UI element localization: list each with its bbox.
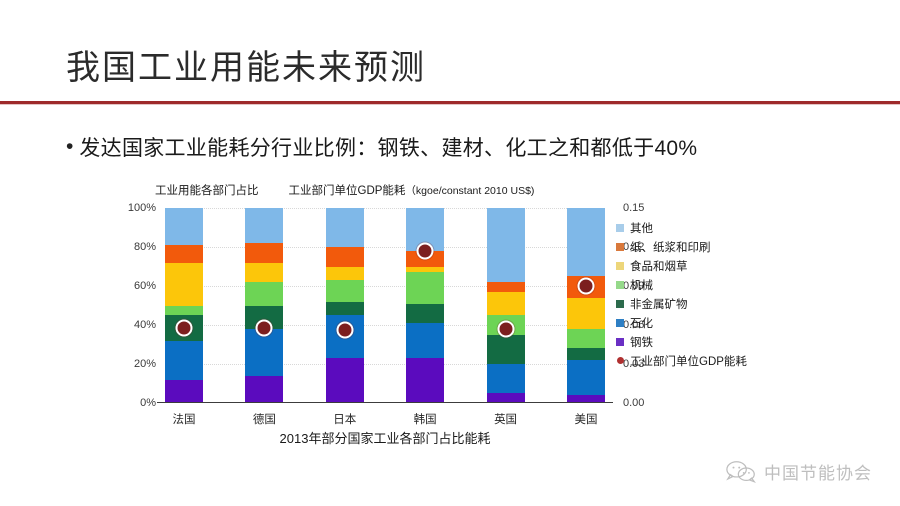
bar-segment[interactable] <box>487 335 525 364</box>
legend-label: 纸、纸浆和印刷 <box>630 239 711 255</box>
bar-segment[interactable] <box>487 292 525 315</box>
bar-segment[interactable] <box>406 358 444 403</box>
page-title: 我国工业用能未来预测 <box>66 40 426 89</box>
overlay-marker[interactable] <box>256 319 273 336</box>
bar-segment[interactable] <box>326 280 364 301</box>
legend-label: 工业部门单位GDP能耗 <box>630 353 747 369</box>
bar-segment[interactable] <box>326 247 364 267</box>
stacked-bar <box>487 208 525 403</box>
bar-segment[interactable] <box>406 323 444 358</box>
left-axis-tick: 20% <box>134 358 156 370</box>
legend-item[interactable]: 食品和烟草 <box>616 256 786 275</box>
bar-column[interactable]: 美国 <box>567 208 605 403</box>
x-axis-tick: 法国 <box>173 411 196 427</box>
legend-swatch-icon <box>616 281 624 289</box>
x-axis-tick: 英国 <box>494 411 517 427</box>
overlay-marker[interactable] <box>577 278 594 295</box>
bar-segment[interactable] <box>165 306 203 316</box>
bar-column[interactable]: 韩国 <box>406 208 444 403</box>
chart-right-axis-title-text: 工业部门单位GDP能耗 <box>289 185 406 197</box>
legend-marker-icon <box>617 357 624 364</box>
chart: 工业用能各部门占比 工业部门单位GDP能耗（kgoe/constant 2010… <box>118 180 783 430</box>
overlay-marker[interactable] <box>336 322 353 339</box>
left-axis-tick: 80% <box>134 241 156 253</box>
bar-segment[interactable] <box>567 329 605 349</box>
bar-column[interactable]: 日本 <box>326 208 364 403</box>
bar-segment[interactable] <box>567 348 605 360</box>
stacked-bar <box>245 208 283 403</box>
left-axis-tick: 60% <box>134 280 156 292</box>
legend-swatch-icon <box>616 224 624 232</box>
x-axis-tick: 韩国 <box>414 411 437 427</box>
bar-group: 法国德国日本韩国英国美国 <box>165 208 605 403</box>
bar-segment[interactable] <box>326 267 364 281</box>
bar-segment[interactable] <box>326 208 364 247</box>
legend-item[interactable]: 纸、纸浆和印刷 <box>616 237 786 256</box>
plot-area: 0%20%40%60%80%100% 0.000.030.060.090.120… <box>165 208 605 403</box>
left-axis-tick: 100% <box>128 202 156 214</box>
title-divider-soft <box>0 104 900 105</box>
bar-segment[interactable] <box>487 208 525 282</box>
bar-segment[interactable] <box>487 282 525 292</box>
watermark: 中国节能协会 <box>726 459 872 484</box>
bar-column[interactable]: 英国 <box>487 208 525 403</box>
left-axis-tick: 0% <box>140 397 156 409</box>
bar-segment[interactable] <box>245 243 283 263</box>
legend-label: 非金属矿物 <box>630 296 688 312</box>
x-axis-line <box>157 402 613 403</box>
legend-swatch-icon <box>616 243 624 251</box>
stacked-bar <box>326 208 364 403</box>
legend-label: 钢铁 <box>630 334 653 350</box>
left-axis-tick: 40% <box>134 319 156 331</box>
bar-column[interactable]: 法国 <box>165 208 203 403</box>
chart-right-axis-unit: （kgoe/constant 2010 US$) <box>405 185 534 197</box>
chart-top-titles: 工业用能各部门占比 工业部门单位GDP能耗（kgoe/constant 2010… <box>150 180 620 200</box>
bar-segment[interactable] <box>245 282 283 305</box>
bar-segment[interactable] <box>406 272 444 303</box>
right-axis-tick: 0.00 <box>623 397 644 409</box>
legend-swatch-icon <box>616 262 624 270</box>
watermark-label: 中国节能协会 <box>764 459 872 484</box>
bullet-point: • 发达国家工业能耗分行业比例：钢铁、建材、化工之和都低于40% <box>66 132 866 162</box>
chart-legend: 其他纸、纸浆和印刷食品和烟草机械非金属矿物石化钢铁工业部门单位GDP能耗 <box>616 218 786 370</box>
bar-segment[interactable] <box>165 341 203 380</box>
legend-item[interactable]: 工业部门单位GDP能耗 <box>616 351 786 370</box>
legend-item[interactable]: 非金属矿物 <box>616 294 786 313</box>
bar-segment[interactable] <box>165 263 203 306</box>
bar-segment[interactable] <box>567 298 605 329</box>
overlay-marker[interactable] <box>417 242 434 259</box>
bar-segment[interactable] <box>165 380 203 403</box>
bar-column[interactable]: 德国 <box>245 208 283 403</box>
bar-segment[interactable] <box>326 302 364 316</box>
chart-left-axis-title: 工业用能各部门占比 <box>155 182 259 198</box>
legend-swatch-icon <box>616 319 624 327</box>
legend-label: 机械 <box>630 277 653 293</box>
bar-segment[interactable] <box>245 376 283 403</box>
legend-item[interactable]: 钢铁 <box>616 332 786 351</box>
x-axis-tick: 德国 <box>253 411 276 427</box>
stacked-bar <box>406 208 444 403</box>
bar-segment[interactable] <box>326 358 364 403</box>
legend-label: 石化 <box>630 315 653 331</box>
bar-segment[interactable] <box>406 304 444 324</box>
legend-item[interactable]: 机械 <box>616 275 786 294</box>
legend-swatch-icon <box>616 338 624 346</box>
stacked-bar <box>165 208 203 403</box>
bullet-marker: • <box>66 136 73 157</box>
right-axis-tick: 0.15 <box>623 202 644 214</box>
overlay-marker[interactable] <box>176 319 193 336</box>
bullet-text: 发达国家工业能耗分行业比例：钢铁、建材、化工之和都低于40% <box>79 132 697 162</box>
legend-label: 其他 <box>630 220 653 236</box>
legend-swatch-icon <box>616 300 624 308</box>
bar-segment[interactable] <box>245 208 283 243</box>
overlay-marker[interactable] <box>497 320 514 337</box>
x-axis-tick: 日本 <box>333 411 356 427</box>
chart-caption: 2013年部分国家工业各部门占比能耗 <box>165 428 605 447</box>
bar-segment[interactable] <box>245 263 283 283</box>
bar-segment[interactable] <box>165 208 203 245</box>
bar-segment[interactable] <box>165 245 203 263</box>
legend-item[interactable]: 石化 <box>616 313 786 332</box>
legend-item[interactable]: 其他 <box>616 218 786 237</box>
x-axis-tick: 美国 <box>574 411 597 427</box>
wechat-icon <box>726 460 756 484</box>
legend-label: 食品和烟草 <box>630 258 688 274</box>
bar-segment[interactable] <box>567 208 605 276</box>
bar-segment[interactable] <box>567 360 605 395</box>
stacked-bar <box>567 208 605 403</box>
chart-right-axis-title: 工业部门单位GDP能耗（kgoe/constant 2010 US$) <box>289 182 535 198</box>
bar-segment[interactable] <box>487 364 525 393</box>
